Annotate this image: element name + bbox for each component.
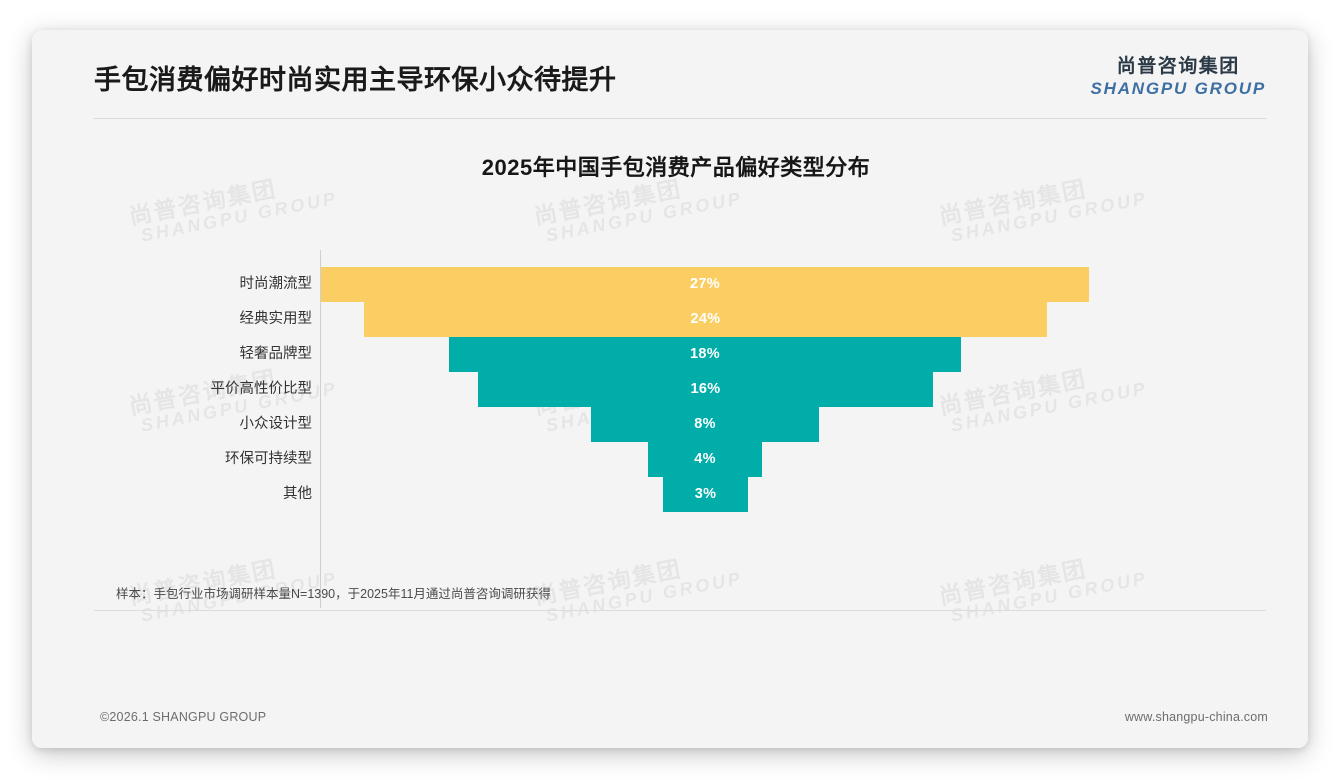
brand-logo: 尚普咨询集团 SHANGPU GROUP	[1091, 56, 1266, 98]
funnel-row: 轻奢品牌型18%	[32, 337, 1308, 372]
category-label: 小众设计型	[32, 407, 312, 442]
slide-footer: ©2026.1 SHANGPU GROUP www.shangpu-china.…	[32, 692, 1308, 748]
funnel-row: 经典实用型24%	[32, 302, 1308, 337]
watermark-en: SHANGPU GROUP	[949, 189, 1149, 247]
slide-canvas: 尚普咨询集团SHANGPU GROUP尚普咨询集团SHANGPU GROUP尚普…	[32, 30, 1308, 748]
bar-value-label: 3%	[663, 477, 748, 512]
category-label: 时尚潮流型	[32, 267, 312, 302]
funnel-bar[interactable]: 4%	[648, 442, 762, 477]
brand-name-en: SHANGPU GROUP	[1091, 79, 1266, 99]
sample-note: 样本：手包行业市场调研样本量N=1390，于2025年11月通过尚普咨询调研获得	[116, 583, 551, 602]
bar-value-label: 16%	[478, 372, 933, 407]
category-label: 其他	[32, 477, 312, 512]
funnel-bar[interactable]: 24%	[364, 302, 1047, 337]
funnel-row: 平价高性价比型16%	[32, 372, 1308, 407]
bar-value-label: 18%	[449, 337, 961, 372]
funnel-bar[interactable]: 18%	[449, 337, 961, 372]
chart-block: 2025年中国手包消费产品偏好类型分布 时尚潮流型27%经典实用型24%轻奢品牌…	[32, 150, 1308, 182]
header-divider	[94, 118, 1266, 119]
category-label: 经典实用型	[32, 302, 312, 337]
funnel-bar[interactable]: 3%	[663, 477, 748, 512]
funnel-row: 其他3%	[32, 477, 1308, 512]
funnel-bar[interactable]: 27%	[321, 267, 1089, 302]
bar-value-label: 4%	[648, 442, 762, 477]
slide-header: 手包消费偏好时尚实用主导环保小众待提升 尚普咨询集团 SHANGPU GROUP	[32, 30, 1308, 120]
category-label: 轻奢品牌型	[32, 337, 312, 372]
funnel-bar[interactable]: 8%	[591, 407, 819, 442]
watermark-en: SHANGPU GROUP	[544, 189, 744, 247]
funnel-row: 环保可持续型4%	[32, 442, 1308, 477]
funnel-bar[interactable]: 16%	[478, 372, 933, 407]
category-label: 环保可持续型	[32, 442, 312, 477]
funnel-chart: 时尚潮流型27%经典实用型24%轻奢品牌型18%平价高性价比型16%小众设计型8…	[32, 250, 1308, 640]
note-divider	[94, 610, 1266, 611]
footer-website[interactable]: www.shangpu-china.com	[1125, 710, 1268, 724]
chart-title: 2025年中国手包消费产品偏好类型分布	[44, 150, 1308, 182]
funnel-row: 时尚潮流型27%	[32, 267, 1308, 302]
watermark-en: SHANGPU GROUP	[139, 189, 339, 247]
funnel-row: 小众设计型8%	[32, 407, 1308, 442]
page-title: 手包消费偏好时尚实用主导环保小众待提升	[94, 58, 617, 97]
footer-copyright: ©2026.1 SHANGPU GROUP	[100, 710, 266, 724]
bar-value-label: 24%	[364, 302, 1047, 337]
brand-name-cn: 尚普咨询集团	[1091, 56, 1266, 78]
category-label: 平价高性价比型	[32, 372, 312, 407]
bar-value-label: 27%	[321, 267, 1089, 302]
bar-value-label: 8%	[591, 407, 819, 442]
